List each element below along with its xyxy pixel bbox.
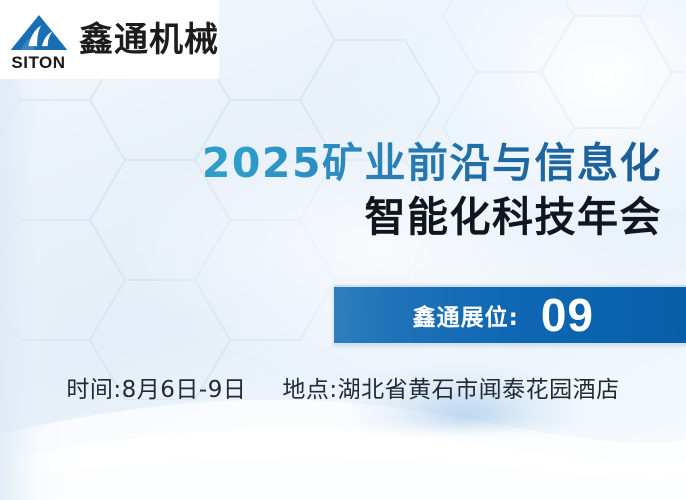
page-title: 2025矿业前沿与信息化 智能化科技年会 xyxy=(0,140,686,242)
logo-chinese-name: 鑫通机械 xyxy=(79,23,219,57)
title-line-2: 智能化科技年会 xyxy=(0,193,662,241)
event-poster: SITON 鑫通机械 2025矿业前沿与信息化 智能化科技年会 鑫通展位: 09… xyxy=(0,0,686,500)
siton-mountain-icon: SITON xyxy=(6,9,71,71)
event-date: 时间:8月6日-9日 xyxy=(66,370,246,404)
booth-number: 09 xyxy=(541,292,594,338)
logo-latin-name: SITON xyxy=(11,54,65,71)
booth-label: 鑫通展位: xyxy=(413,298,519,332)
event-details: 时间:8月6日-9日 地点:湖北省黄石市闻泰花园酒店 xyxy=(0,370,686,404)
booth-number-banner: 鑫通展位: 09 xyxy=(334,285,686,345)
event-venue: 地点:湖北省黄石市闻泰花园酒店 xyxy=(282,370,619,404)
mountain-icon-svg xyxy=(8,13,70,52)
company-logo-block: SITON 鑫通机械 xyxy=(0,0,219,79)
title-line-1: 2025矿业前沿与信息化 xyxy=(0,140,662,187)
